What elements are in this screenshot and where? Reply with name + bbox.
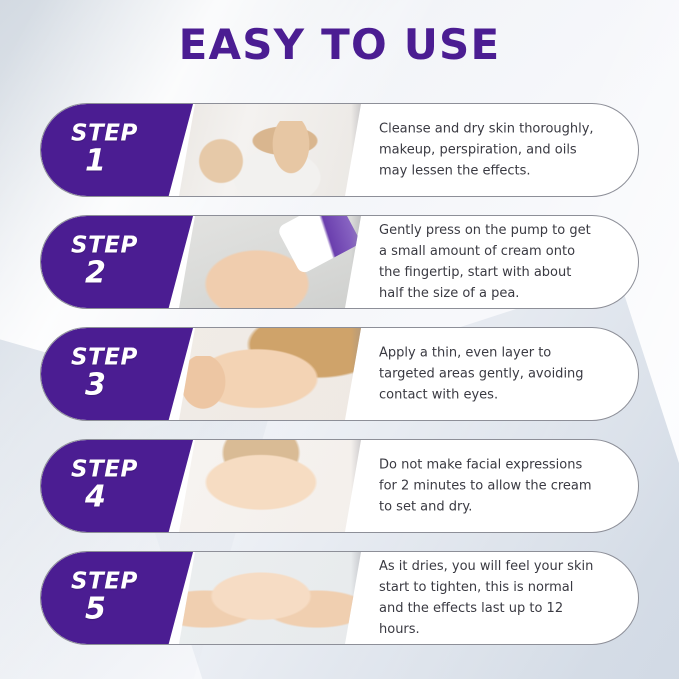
step-number: 4 xyxy=(63,483,138,514)
step-badge: STEP 2 xyxy=(41,216,193,308)
step-description: As it dries, you will feel your skin sta… xyxy=(379,556,596,640)
photo-edge-shadow xyxy=(351,216,361,308)
step-word: STEP xyxy=(63,458,138,481)
step-description: Do not make facial expressions for 2 min… xyxy=(379,454,596,517)
step-word: STEP xyxy=(63,234,138,257)
list-item: STEP 4 Do not make facial expressions fo… xyxy=(40,439,639,533)
woman-hands-framing-face-photo xyxy=(161,552,361,644)
step-card: STEP 5 As it dries, you will feel your s… xyxy=(40,551,639,645)
step-description: Cleanse and dry skin thoroughly, makeup,… xyxy=(379,118,596,181)
page-title: EASY TO USE xyxy=(0,24,679,66)
steps-list: STEP 1 Cleanse and dry skin thoroughly, … xyxy=(0,103,679,663)
step-badge: STEP 3 xyxy=(41,328,193,420)
step-card: STEP 1 Cleanse and dry skin thoroughly, … xyxy=(40,103,639,197)
step-badge: STEP 4 xyxy=(41,440,193,532)
step-card: STEP 4 Do not make facial expressions fo… xyxy=(40,439,639,533)
step-photo xyxy=(161,104,361,196)
step-card: STEP 3 Apply a thin, even layer to targe… xyxy=(40,327,639,421)
step-number: 1 xyxy=(63,147,138,178)
step-badge-label: STEP 2 xyxy=(63,234,138,289)
step-badge-label: STEP 4 xyxy=(63,458,138,513)
list-item: STEP 5 As it dries, you will feel your s… xyxy=(40,551,639,645)
step-number: 2 xyxy=(63,259,138,290)
step-photo xyxy=(161,216,361,308)
step-description: Apply a thin, even layer to targeted are… xyxy=(379,342,596,405)
step-badge: STEP 5 xyxy=(41,552,193,644)
step-badge-label: STEP 5 xyxy=(63,570,138,625)
step-badge-label: STEP 1 xyxy=(63,122,138,177)
photo-edge-shadow xyxy=(351,328,361,420)
photo-edge-shadow xyxy=(351,104,361,196)
step-photo xyxy=(161,552,361,644)
step-word: STEP xyxy=(63,346,138,369)
woman-washing-face-photo xyxy=(161,104,361,196)
pump-bottle-dispensing-cream-photo xyxy=(161,216,361,308)
step-word: STEP xyxy=(63,122,138,145)
list-item: STEP 2 Gently press on the pump to get a… xyxy=(40,215,639,309)
list-item: STEP 1 Cleanse and dry skin thoroughly, … xyxy=(40,103,639,197)
step-badge: STEP 1 xyxy=(41,104,193,196)
step-description: Gently press on the pump to get a small … xyxy=(379,220,596,304)
step-badge-label: STEP 3 xyxy=(63,346,138,401)
step-number: 3 xyxy=(63,371,138,402)
step-photo xyxy=(161,440,361,532)
list-item: STEP 3 Apply a thin, even layer to targe… xyxy=(40,327,639,421)
step-card: STEP 2 Gently press on the pump to get a… xyxy=(40,215,639,309)
woman-relaxed-face-eyes-closed-photo xyxy=(161,440,361,532)
photo-edge-shadow xyxy=(351,552,361,644)
step-number: 5 xyxy=(63,595,138,626)
woman-applying-cream-to-cheek-photo xyxy=(161,328,361,420)
photo-edge-shadow xyxy=(351,440,361,532)
step-word: STEP xyxy=(63,570,138,593)
easy-to-use-infographic: EASY TO USE STEP 1 Cleanse and dry skin … xyxy=(0,0,679,679)
step-photo xyxy=(161,328,361,420)
